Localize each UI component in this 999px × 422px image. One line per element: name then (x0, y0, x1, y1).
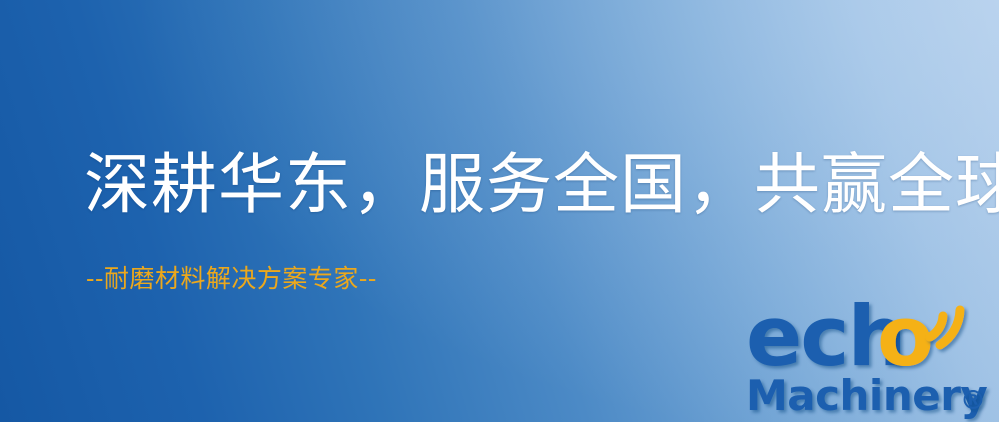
registered-trademark-icon: ® (960, 386, 986, 416)
logo-text-machinery: Machinery (746, 371, 987, 420)
banner-headline: 深耕华东，服务全国，共赢全球 (84, 152, 999, 218)
hero-banner: 深耕华东，服务全国，共赢全球 --耐磨材料解决方案专家-- ech o Mach… (0, 0, 999, 422)
echo-machinery-logo[interactable]: ech o Machinery ® (744, 292, 999, 422)
wifi-arcs-icon (930, 310, 960, 345)
banner-subtitle: --耐磨材料解决方案专家-- (86, 266, 377, 291)
